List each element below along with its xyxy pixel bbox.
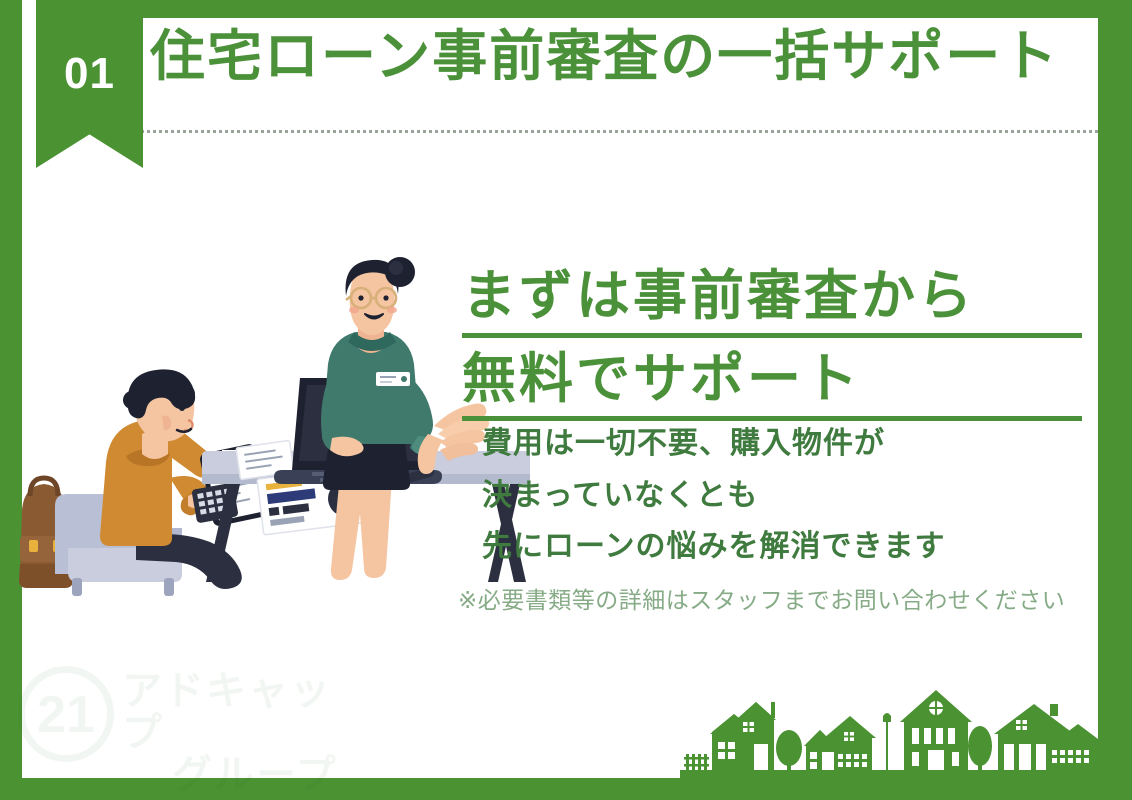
ribbon-notch <box>22 0 36 200</box>
slide-root: 01 住宅ローン事前審査の一括サポート <box>0 0 1132 800</box>
name-badge-icon <box>376 372 410 386</box>
house-skyline <box>680 658 1110 778</box>
header-divider <box>22 130 1098 133</box>
body-line-2: 決まっていなくとも <box>482 470 1082 522</box>
body-line-3: 先にローンの悩みを解消できます <box>482 521 1082 573</box>
brand-watermark: 21 アドキャップ グループ <box>18 664 348 774</box>
watermark-line-1: アドキャップ <box>122 670 348 754</box>
section-number-label: 01 <box>36 52 143 96</box>
body-copy-block: 費用は一切不要、購入物件が 決まっていなくとも 先にローンの悩みを解消できます <box>482 418 1082 573</box>
headline-line-2: 無料でサポート <box>462 345 1082 421</box>
footnote: ※必要書類等の詳細はスタッフまでお問い合わせください <box>458 581 1065 615</box>
watermark-badge: 21 <box>18 666 114 762</box>
consultation-illustration <box>10 248 530 598</box>
watermark-text: アドキャップ グループ <box>122 670 348 796</box>
watermark-line-2: グループ <box>122 754 348 796</box>
body-line-1: 費用は一切不要、購入物件が <box>482 418 1082 470</box>
headline-line-1: まずは事前審査から <box>462 262 1082 338</box>
headline-block: まずは事前審査から 無料でサポート <box>462 262 1082 428</box>
page-title: 住宅ローン事前審査の一括サポート <box>150 28 1059 86</box>
